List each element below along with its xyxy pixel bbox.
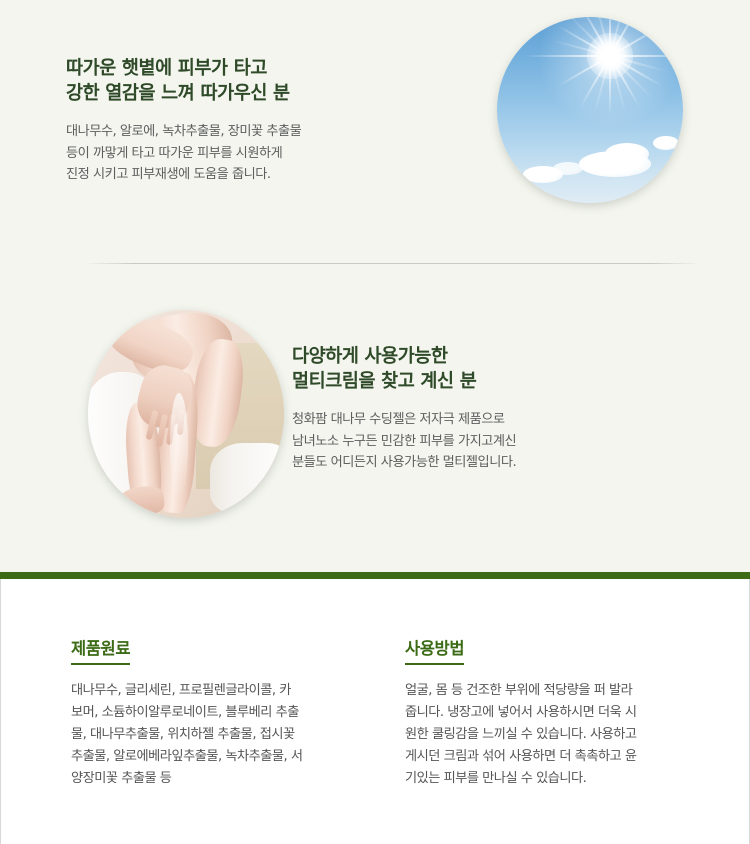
usage-column: 사용방법 얼굴, 몸 등 건조한 부위에 적당량을 퍼 발라 줍니다. 냉장고에… [405, 635, 697, 790]
benefit-block-sunburn-relief: 따가운 햇볕에 피부가 타고 강한 열감을 느껴 따가우신 분 대나무수, 알로… [0, 0, 750, 259]
benefit-description-line2: 남녀노소 누구든 민감한 피부를 가지고계신 [292, 431, 642, 453]
usage-body: 얼굴, 몸 등 건조한 부위에 적당량을 퍼 발라 줍니다. 냉장고에 넣어서 … [405, 680, 697, 790]
ingredients-line5: 양장미꽃 추출물 등 [71, 768, 363, 790]
usage-line1: 얼굴, 몸 등 건조한 부위에 적당량을 퍼 발라 [405, 680, 697, 702]
product-detail-page: 따가운 햇볕에 피부가 타고 강한 열감을 느껴 따가우신 분 대나무수, 알로… [0, 0, 750, 844]
benefit-text-group: 다양하게 사용가능한 멀티크림을 찾고 계신 분 청화팜 대나무 수딩젤은 저자… [292, 344, 642, 474]
benefit-headline-line2: 멀티크림을 찾고 계신 분 [292, 369, 642, 394]
green-separator-bar [0, 572, 750, 579]
benefit-headline: 다양하게 사용가능한 멀티크림을 찾고 계신 분 [292, 344, 642, 394]
ingredients-column: 제품원료 대나무수, 글리세린, 프로필렌글라이콜, 카 보머, 소듐하이알루로… [71, 635, 363, 790]
ingredients-line2: 보머, 소듐하이알루로네이트, 블루베리 추출 [71, 702, 363, 724]
benefit-description: 대나무수, 알로에, 녹차추출물, 장미꽃 추출물 등이 까맣게 타고 따가운 … [66, 121, 396, 186]
ingredients-line1: 대나무수, 글리세린, 프로필렌글라이콜, 카 [71, 680, 363, 702]
benefit-description: 청화팜 대나무 수딩젤은 저자극 제품으로 남녀노소 누구든 민감한 피부를 가… [292, 409, 642, 474]
cloud-icon [553, 162, 583, 175]
ingredients-line4: 추출물, 알로에베라잎추출물, 녹차추출물, 서 [71, 746, 363, 768]
legs-applying-gel-photo-circle [88, 310, 284, 518]
usage-title: 사용방법 [405, 635, 464, 665]
cloud-icon [653, 136, 679, 150]
usage-line5: 기있는 피부를 만나실 수 있습니다. [405, 768, 697, 790]
benefit-description-line2: 등이 까맣게 타고 따가운 피부를 시원하게 [66, 143, 396, 165]
usage-line4: 게시던 크림과 섞어 사용하면 더 촉촉하고 윤 [405, 746, 697, 768]
benefits-section: 따가운 햇볕에 피부가 타고 강한 열감을 느껴 따가우신 분 대나무수, 알로… [0, 0, 750, 572]
product-info-section: 제품원료 대나무수, 글리세린, 프로필렌글라이콜, 카 보머, 소듐하이알루로… [0, 579, 750, 844]
benefit-headline-line1: 따가운 햇볕에 피부가 타고 [66, 56, 396, 81]
sun-sky-photo [497, 17, 683, 203]
ingredients-title: 제품원료 [71, 635, 130, 665]
legs-applying-gel-photo [88, 310, 284, 518]
usage-line2: 줍니다. 냉장고에 넣어서 사용하시면 더욱 시 [405, 702, 697, 724]
sun-sky-photo-circle [497, 17, 683, 203]
benefit-description-line3: 진정 시키고 피부재생에 도움을 줍니다. [66, 164, 396, 186]
benefit-description-line1: 대나무수, 알로에, 녹차추출물, 장미꽃 추출물 [66, 121, 396, 143]
ingredients-body: 대나무수, 글리세린, 프로필렌글라이콜, 카 보머, 소듐하이알루로네이트, … [71, 680, 363, 790]
benefit-headline-line1: 다양하게 사용가능한 [292, 344, 642, 369]
usage-line3: 원한 쿨링감을 느끼실 수 있습니다. 사용하고 [405, 724, 697, 746]
background-tub-secondary [210, 443, 284, 514]
ingredients-line3: 물, 대나무추출물, 위치하젤 추출물, 접시꽃 [71, 724, 363, 746]
benefit-headline-line2: 강한 열감을 느껴 따가우신 분 [66, 81, 396, 106]
skin-gloss-highlight [170, 393, 188, 497]
benefit-text-group: 따가운 햇볕에 피부가 타고 강한 열감을 느껴 따가우신 분 대나무수, 알로… [66, 56, 396, 186]
benefit-block-multi-use-cream: 다양하게 사용가능한 멀티크림을 찾고 계신 분 청화팜 대나무 수딩젤은 저자… [0, 264, 750, 572]
benefit-headline: 따가운 햇볕에 피부가 타고 강한 열감을 느껴 따가우신 분 [66, 56, 396, 106]
benefit-description-line1: 청화팜 대나무 수딩젤은 저자극 제품으로 [292, 409, 642, 431]
benefit-description-line3: 분들도 어디든지 사용가능한 멀티젤입니다. [292, 452, 642, 474]
